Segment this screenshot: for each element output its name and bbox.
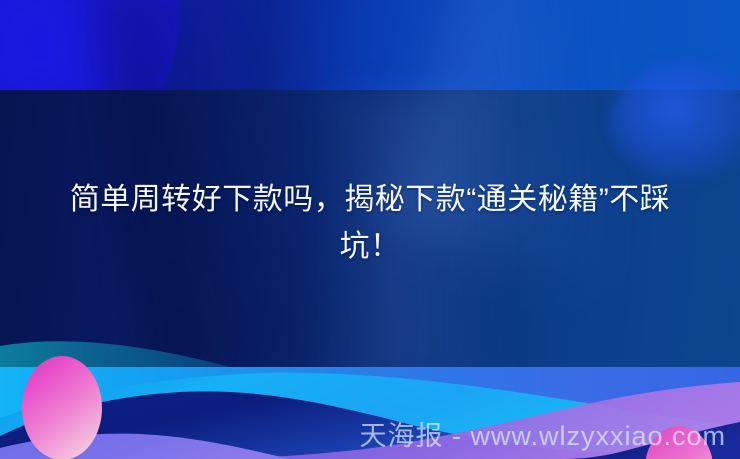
watermark-text: 天海报 - www.wlzyxxiao.com — [359, 414, 726, 453]
poster-title: 简单周转好下款吗，揭秘下款“通关秘籍”不踩坑！ — [0, 176, 740, 270]
poster-canvas: 简单周转好下款吗，揭秘下款“通关秘籍”不踩坑！ 天海报 - www.wlzyxx… — [0, 0, 740, 459]
